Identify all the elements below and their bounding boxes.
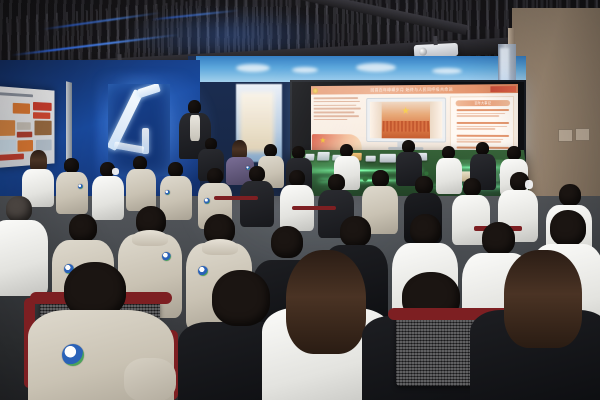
projector-lens-icon	[419, 47, 427, 55]
presenter-head	[188, 100, 201, 114]
chair-back-rail[interactable]	[292, 206, 336, 210]
head	[507, 146, 521, 160]
audience-member	[126, 156, 156, 210]
panel-banner	[33, 102, 52, 111]
panel-caption	[17, 132, 32, 138]
head	[463, 178, 481, 196]
model-building	[380, 154, 396, 163]
head	[6, 196, 32, 222]
long-hair	[286, 250, 366, 354]
torso	[56, 172, 88, 214]
audience-member-foreground	[28, 262, 174, 400]
hall-seating	[374, 128, 439, 136]
head	[340, 216, 371, 247]
cloud	[356, 63, 396, 72]
head	[168, 162, 183, 177]
power-outlet	[575, 128, 590, 141]
slide-text-column	[314, 97, 362, 135]
head	[289, 170, 305, 186]
school-badge	[62, 344, 84, 366]
panel-photo	[0, 120, 15, 136]
list-item-sub	[457, 128, 496, 129]
list-item-sub	[457, 113, 506, 114]
chair-back-rail[interactable]	[214, 196, 258, 200]
panel-photo	[0, 140, 16, 152]
sky-mural-band	[196, 56, 526, 82]
slide-list-item	[457, 109, 509, 118]
panel-banner	[33, 112, 50, 119]
head	[372, 170, 389, 187]
great-hall-image	[370, 101, 442, 138]
slide-text-line	[314, 101, 360, 103]
school-badge	[162, 252, 171, 261]
cloud	[292, 67, 318, 73]
torso	[126, 169, 156, 211]
slide-text-line	[314, 115, 359, 117]
hood	[202, 239, 238, 255]
panel-photo	[13, 103, 30, 114]
audience-member	[280, 170, 314, 228]
slide-flag-strip	[490, 86, 516, 92]
head	[133, 156, 147, 170]
face-mask	[525, 180, 533, 189]
slide-list-item	[457, 122, 509, 131]
long-hair	[504, 250, 582, 348]
list-item-sub	[457, 125, 508, 126]
school-badge	[78, 184, 83, 189]
slide-text-line	[314, 97, 358, 99]
head	[559, 184, 581, 206]
cloud	[236, 64, 270, 72]
panel-caption	[0, 153, 24, 160]
arrow-shaft	[108, 89, 144, 151]
audience-member-foreground	[470, 250, 600, 400]
hood	[132, 230, 168, 246]
head	[415, 176, 433, 194]
head	[207, 168, 223, 184]
slide-monitor-graphic	[366, 97, 446, 142]
cloud	[432, 68, 462, 74]
head	[550, 210, 586, 246]
slide-text-line	[314, 119, 348, 121]
hall-emblem-icon	[402, 107, 409, 115]
head	[64, 158, 79, 173]
head	[69, 214, 97, 242]
slide-text-line	[314, 108, 361, 110]
slide-text-line	[314, 104, 357, 106]
audience-member	[56, 158, 88, 212]
face-mask	[112, 168, 119, 175]
school-badge	[204, 198, 210, 204]
exhibition-hall-photo: 回首百年峥嵘岁月 始终与人民同呼吸共命运	[0, 0, 600, 400]
arm	[124, 358, 176, 400]
panel-photo	[34, 121, 51, 136]
list-item-heading	[457, 135, 509, 137]
list-item-sub	[457, 138, 504, 140]
list-item-heading	[457, 109, 509, 111]
slide-list-header-text: 百年大事记	[456, 100, 510, 106]
head	[410, 214, 441, 245]
head	[249, 166, 265, 182]
party-emblem-icon	[313, 88, 318, 94]
head	[328, 174, 345, 191]
panel-photo	[17, 122, 31, 130]
arrow-base	[114, 141, 145, 153]
power-outlet	[558, 129, 573, 142]
list-item-heading	[457, 122, 509, 124]
slide-list-header: 百年大事记	[456, 100, 510, 106]
arrow-head	[137, 84, 161, 98]
slide-text-line	[314, 112, 355, 114]
panel-header-bar	[0, 92, 33, 97]
model-tree	[424, 171, 428, 175]
projector-mount	[433, 36, 437, 45]
school-badge	[165, 190, 170, 195]
list-item-sub	[457, 115, 500, 116]
